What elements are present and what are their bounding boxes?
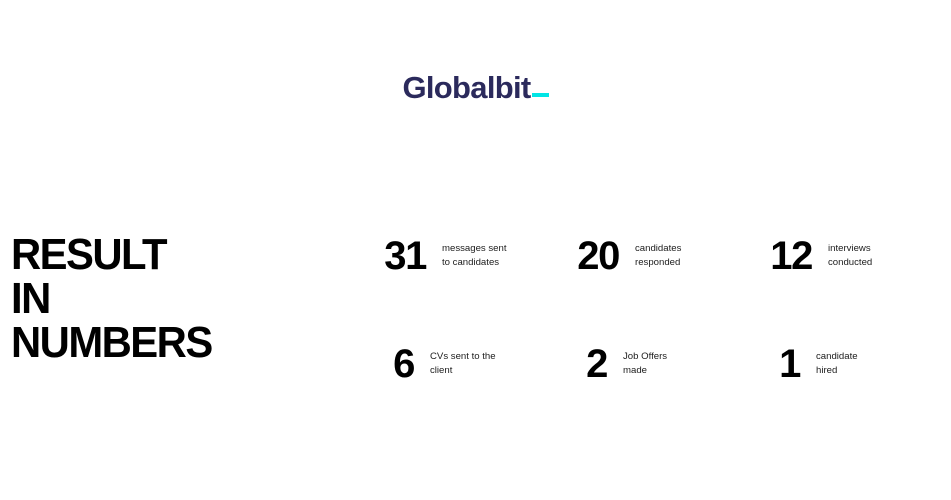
page-title-line-1: RESULT bbox=[11, 233, 212, 277]
page-title: RESULT IN NUMBERS bbox=[11, 233, 212, 365]
stat-value: 6 bbox=[360, 336, 414, 384]
stat-label: messages sent to candidates bbox=[426, 228, 507, 270]
stat-label-line-1: interviews bbox=[828, 242, 872, 256]
stat-label-line-2: client bbox=[430, 364, 496, 378]
stat-label: CVs sent to the client bbox=[414, 336, 496, 378]
stat-value: 12 bbox=[746, 228, 812, 276]
page-title-line-3: NUMBERS bbox=[11, 321, 212, 365]
stat-value: 31 bbox=[360, 228, 426, 276]
brand-logo-underscore-icon bbox=[532, 93, 549, 97]
stat-label-line-2: responded bbox=[635, 256, 681, 270]
stats-row: 6 CVs sent to the client 2 Job Offers ma… bbox=[360, 336, 940, 396]
stat-label-line-2: hired bbox=[816, 364, 858, 378]
stat-label: candidates responded bbox=[619, 228, 681, 270]
stats-row: 31 messages sent to candidates 20 candid… bbox=[360, 228, 940, 336]
stat-label-line-1: candidate bbox=[816, 350, 858, 364]
stat-label: candidate hired bbox=[800, 336, 858, 378]
stat-value: 1 bbox=[746, 336, 800, 384]
stat-label-line-2: to candidates bbox=[442, 256, 507, 270]
stat-item: 6 CVs sent to the client bbox=[360, 336, 553, 396]
stat-label-line-1: candidates bbox=[635, 242, 681, 256]
stat-value: 2 bbox=[553, 336, 607, 384]
brand-logo-text: Globalbit bbox=[402, 72, 530, 103]
stats-grid: 31 messages sent to candidates 20 candid… bbox=[360, 228, 940, 396]
stat-item: 20 candidates responded bbox=[553, 228, 746, 336]
stat-item: 12 interviews conducted bbox=[746, 228, 939, 336]
stat-item: 31 messages sent to candidates bbox=[360, 228, 553, 336]
stat-label: interviews conducted bbox=[812, 228, 872, 270]
page-title-line-2: IN bbox=[11, 277, 212, 321]
stat-item: 1 candidate hired bbox=[746, 336, 939, 396]
stat-label-line-1: messages sent bbox=[442, 242, 507, 256]
stat-label-line-1: CVs sent to the bbox=[430, 350, 496, 364]
stat-label: Job Offers made bbox=[607, 336, 667, 378]
stat-item: 2 Job Offers made bbox=[553, 336, 746, 396]
stat-label-line-1: Job Offers bbox=[623, 350, 667, 364]
stat-label-line-2: conducted bbox=[828, 256, 872, 270]
stat-value: 20 bbox=[553, 228, 619, 276]
stat-label-line-2: made bbox=[623, 364, 667, 378]
brand-logo[interactable]: Globalbit bbox=[0, 72, 951, 103]
